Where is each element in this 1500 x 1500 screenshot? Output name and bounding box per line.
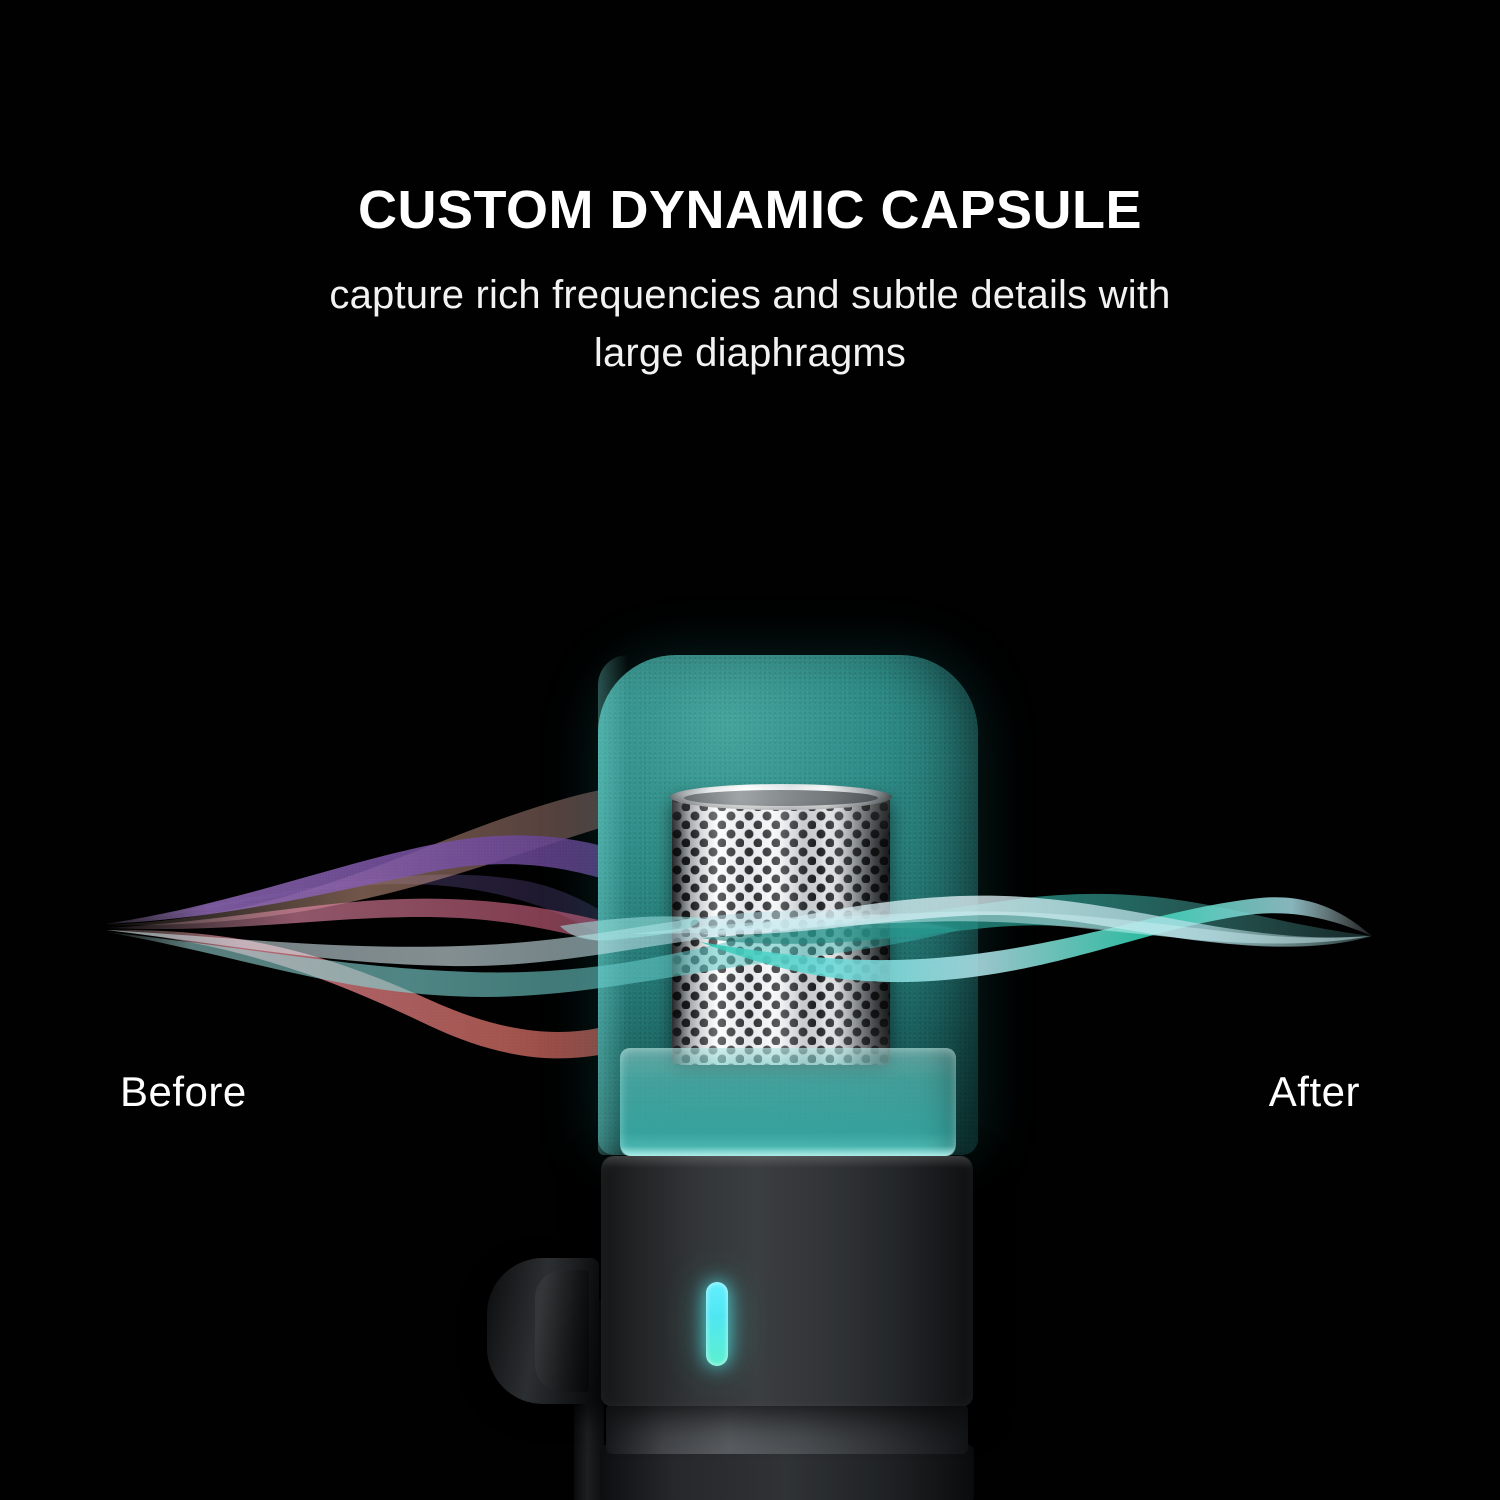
page-subtitle: capture rich frequencies and subtle deta… xyxy=(240,266,1260,382)
subtitle-line-1: capture rich frequencies and subtle deta… xyxy=(329,273,1170,317)
mic-body-band xyxy=(606,1404,968,1454)
after-label: After xyxy=(1269,1068,1360,1116)
mic-body xyxy=(601,1156,973,1406)
foam-base-collar xyxy=(620,1048,956,1156)
copy-block: CUSTOM DYNAMIC CAPSULE capture rich freq… xyxy=(0,180,1500,382)
led-indicator xyxy=(706,1282,728,1366)
grille-top-cap-inner xyxy=(684,790,878,806)
capsule-grille xyxy=(672,793,890,1065)
grille-perforations xyxy=(672,793,890,1065)
subtitle-line-2: large diaphragms xyxy=(594,331,906,375)
before-label: Before xyxy=(120,1068,247,1116)
promo-stage: CUSTOM DYNAMIC CAPSULE capture rich freq… xyxy=(0,0,1500,1500)
page-title: CUSTOM DYNAMIC CAPSULE xyxy=(0,180,1500,240)
mount-knob[interactable] xyxy=(487,1258,599,1404)
